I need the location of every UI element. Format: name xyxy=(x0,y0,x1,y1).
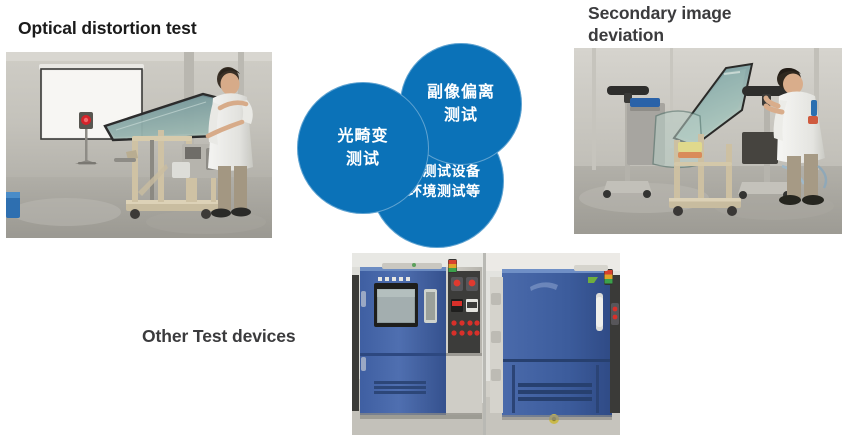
circle-optical-distortion[interactable]: 光畸变 测试 xyxy=(297,82,429,214)
page-title-optical-distortion: Optical distortion test xyxy=(18,18,197,39)
photo-optical-distortion-test xyxy=(6,52,272,238)
page-title-secondary-image-deviation: Secondary image deviation xyxy=(588,2,731,46)
circle-optical-line1: 光畸变 xyxy=(337,125,388,148)
page-title-other-test-devices: Other Test devices xyxy=(142,326,296,347)
photo-test-chambers-graphic xyxy=(352,253,620,435)
circle-secondary-line2: 测试 xyxy=(444,104,478,127)
circle-optical-line2: 测试 xyxy=(346,148,380,171)
circle-secondary-line1: 副像偏离 xyxy=(427,81,495,104)
slide-canvas: Optical distortion test Secondary image … xyxy=(0,0,846,436)
photo-other-test-devices xyxy=(352,253,620,435)
photo-secondary-image-deviation xyxy=(574,48,842,234)
photo-optical-distortion-graphic xyxy=(6,52,272,238)
photo-secondary-image-deviation-graphic xyxy=(574,48,842,234)
